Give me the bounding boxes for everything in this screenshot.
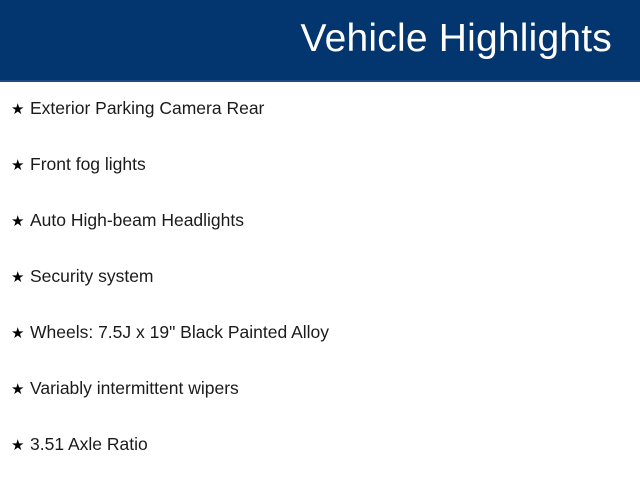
list-item: ★ Variably intermittent wipers (0, 380, 640, 436)
star-icon: ★ (11, 158, 30, 173)
page-title: Vehicle Highlights (301, 19, 640, 62)
list-item: ★ Front fog lights (0, 156, 640, 212)
star-icon: ★ (11, 270, 30, 285)
list-item-label: Exterior Parking Camera Rear (30, 100, 264, 118)
list-item-label: 3.51 Axle Ratio (30, 436, 148, 454)
page-header-banner: Vehicle Highlights (0, 0, 640, 80)
star-icon: ★ (11, 214, 30, 229)
star-icon: ★ (11, 382, 30, 397)
star-icon: ★ (11, 102, 30, 117)
list-item-label: Auto High-beam Headlights (30, 212, 244, 230)
list-item: ★ 3.51 Axle Ratio (0, 436, 640, 492)
vehicle-highlights-list: ★ Exterior Parking Camera Rear ★ Front f… (0, 82, 640, 492)
list-item: ★ Wheels: 7.5J x 19" Black Painted Alloy (0, 324, 640, 380)
list-item-label: Front fog lights (30, 156, 146, 174)
list-item-label: Security system (30, 268, 154, 286)
star-icon: ★ (11, 326, 30, 341)
list-item-label: Wheels: 7.5J x 19" Black Painted Alloy (30, 324, 329, 342)
list-item: ★ Exterior Parking Camera Rear (0, 100, 640, 156)
list-item: ★ Auto High-beam Headlights (0, 212, 640, 268)
vehicle-highlights-page: Vehicle Highlights ★ Exterior Parking Ca… (0, 0, 640, 480)
list-item: ★ Security system (0, 268, 640, 324)
list-item-label: Variably intermittent wipers (30, 380, 239, 398)
star-icon: ★ (11, 438, 30, 453)
